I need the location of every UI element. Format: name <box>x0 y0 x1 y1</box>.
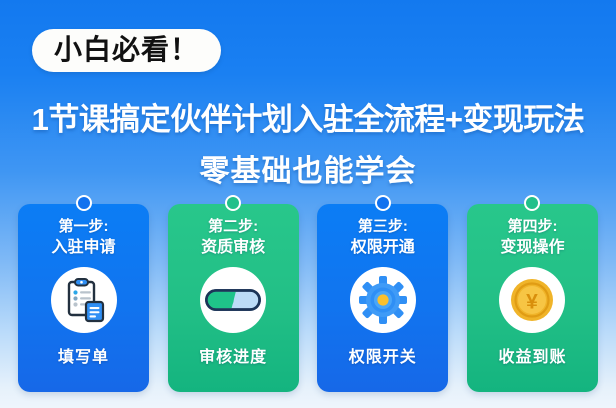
step-connector-dot-icon <box>76 195 92 211</box>
promo-poster: 小白必看！ 1节课搞定伙伴计划入驻全流程+变现玩法 零基础也能学会 第一步: 入… <box>0 0 616 408</box>
step-connector-dot-icon <box>524 195 540 211</box>
step-label-4: 第四步: <box>507 217 557 238</box>
headline-primary: 1节课搞定伙伴计划入驻全流程+变现玩法 <box>0 94 616 139</box>
step-title-4: 变现操作 <box>500 238 564 259</box>
step-card-2[interactable]: 第二步: 资质审核 审核进度 <box>168 204 299 392</box>
headline-secondary: 零基础也能学会 <box>0 146 616 190</box>
step-connector-dot-icon <box>225 195 241 211</box>
yuan-coin-icon: ¥ <box>499 267 565 333</box>
step-label-1: 第一步: <box>59 217 109 238</box>
step-title-1: 入驻申请 <box>51 238 115 259</box>
step-connector-dot-icon <box>375 195 391 211</box>
clipboard-form-icon <box>51 267 117 333</box>
step-label-3: 第三步: <box>358 217 408 238</box>
step-title-2: 资质审核 <box>201 238 265 259</box>
step-caption-1: 填写单 <box>58 343 109 367</box>
step-label-2: 第二步: <box>208 217 258 238</box>
step-caption-2: 审核进度 <box>199 343 267 367</box>
step-card-1[interactable]: 第一步: 入驻申请 填写单 <box>18 204 149 392</box>
highlight-badge: 小白必看！ <box>32 29 221 72</box>
step-title-3: 权限开通 <box>351 238 415 259</box>
currency-symbol: ¥ <box>527 291 539 314</box>
gear-settings-icon <box>350 267 416 333</box>
steps-row: 第一步: 入驻申请 填写单 <box>18 204 598 394</box>
progress-bar-icon <box>200 267 266 333</box>
step-card-3[interactable]: 第三步: 权限开通 <box>317 204 448 392</box>
step-card-4[interactable]: 第四步: 变现操作 ¥ 收益到账 <box>467 204 598 392</box>
step-caption-3: 权限开关 <box>349 343 417 367</box>
step-caption-4: 收益到账 <box>498 343 566 367</box>
